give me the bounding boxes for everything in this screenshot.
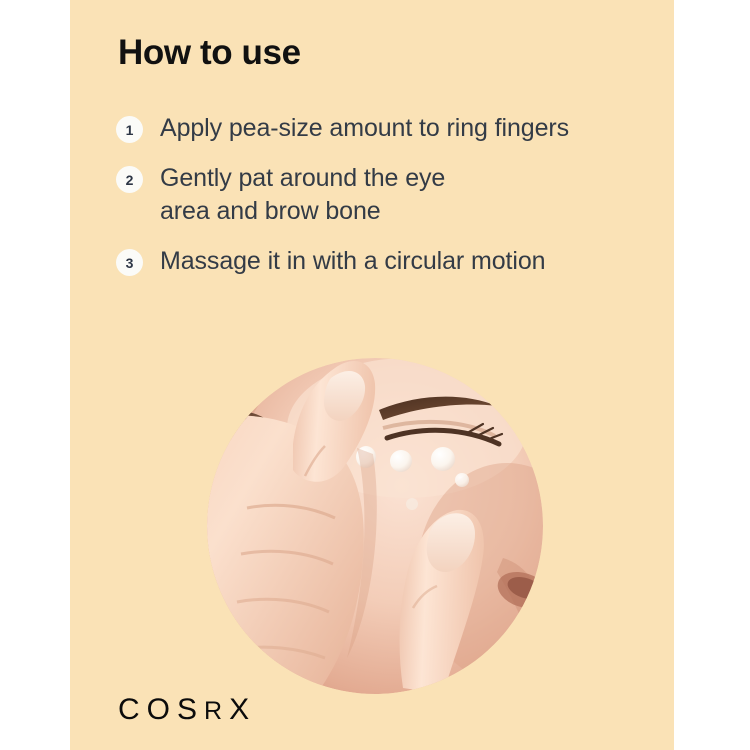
step-text-2: Gently pat around the eye area and brow … bbox=[160, 162, 656, 228]
brand-logo-part2: R bbox=[204, 697, 229, 725]
step-line: Apply pea-size amount to ring fingers bbox=[160, 112, 656, 145]
face-application-photo-icon bbox=[207, 358, 543, 694]
page-title: How to use bbox=[118, 32, 301, 74]
list-item: 1 Apply pea-size amount to ring fingers bbox=[116, 112, 656, 145]
step-text-1: Apply pea-size amount to ring fingers bbox=[160, 112, 656, 145]
brand-logo-part1: COS bbox=[118, 693, 204, 726]
step-line: area and brow bone bbox=[160, 195, 656, 228]
how-to-use-card: How to use 1 Apply pea-size amount to ri… bbox=[70, 0, 674, 750]
list-item: 2 Gently pat around the eye area and bro… bbox=[116, 162, 656, 228]
step-line: Massage it in with a circular motion bbox=[160, 245, 656, 278]
step-text-3: Massage it in with a circular motion bbox=[160, 245, 656, 278]
product-usage-photo bbox=[207, 358, 543, 694]
step-number-badge-1: 1 bbox=[116, 116, 143, 143]
step-line: Gently pat around the eye bbox=[160, 162, 656, 195]
brand-logo: COSRX bbox=[118, 693, 256, 727]
step-number-badge-2: 2 bbox=[116, 166, 143, 193]
steps-list: 1 Apply pea-size amount to ring fingers … bbox=[116, 112, 656, 295]
brand-logo-part3: X bbox=[229, 693, 256, 726]
step-number-badge-3: 3 bbox=[116, 249, 143, 276]
list-item: 3 Massage it in with a circular motion bbox=[116, 245, 656, 278]
